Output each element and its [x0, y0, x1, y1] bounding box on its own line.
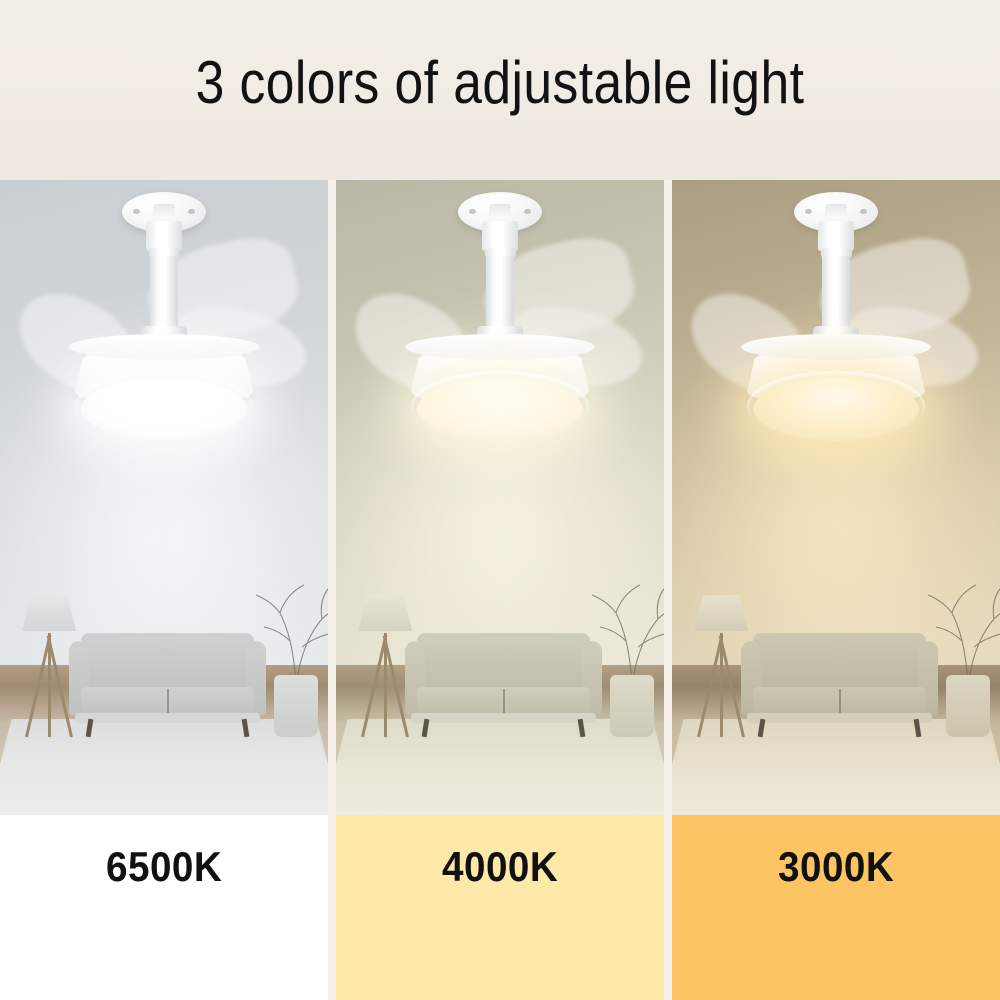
color-temperature-comparison: 6500K	[0, 180, 1000, 1000]
branch-vase	[946, 665, 990, 737]
header-banner: 3 colors of adjustable light	[0, 0, 1000, 180]
dried-branches-icon	[240, 575, 328, 685]
vase-body	[610, 675, 654, 737]
dried-branches-icon	[576, 575, 664, 685]
page-title: 3 colors of adjustable light	[70, 52, 930, 114]
mount-screw	[188, 209, 195, 214]
swatch-label-6500k: 6500K	[106, 843, 222, 891]
room-scene-4000k	[336, 180, 664, 815]
downrod-upper	[818, 221, 854, 251]
two-seat-sofa	[69, 615, 266, 737]
sofa-base	[411, 713, 596, 723]
two-seat-sofa	[741, 615, 938, 737]
room-scene-6500k	[0, 180, 328, 815]
mount-screw	[860, 209, 867, 214]
vase-body	[946, 675, 990, 737]
housing-lip	[405, 334, 595, 360]
branch-vase	[274, 665, 318, 737]
mount-screw	[805, 209, 812, 214]
dried-branches-icon	[912, 575, 1000, 685]
housing-lip	[69, 334, 259, 360]
downrod	[486, 256, 514, 334]
panel-6500k[interactable]: 6500K	[0, 180, 328, 1000]
diffuser-rim	[747, 371, 925, 441]
mount-screw	[524, 209, 531, 214]
swatch-6500k[interactable]: 6500K	[0, 815, 328, 1000]
sofa-seat-divider	[839, 689, 841, 715]
mount-screw	[469, 209, 476, 214]
diffuser-rim	[411, 371, 589, 441]
downrod	[150, 256, 178, 334]
swatch-4000k[interactable]: 4000K	[336, 815, 664, 1000]
mount-screw	[133, 209, 140, 214]
two-seat-sofa	[405, 615, 602, 737]
housing-lip	[741, 334, 931, 360]
downrod-upper	[482, 221, 518, 251]
vase-body	[274, 675, 318, 737]
diffuser-rim	[75, 371, 253, 441]
mount-notch	[153, 204, 175, 217]
mount-notch	[489, 204, 511, 217]
swatch-3000k[interactable]: 3000K	[672, 815, 1000, 1000]
panel-4000k[interactable]: 4000K	[336, 180, 664, 1000]
panel-3000k[interactable]: 3000K	[672, 180, 1000, 1000]
sofa-base	[747, 713, 932, 723]
swatch-label-4000k: 4000K	[442, 843, 558, 891]
product-feature-image: 3 colors of adjustable light	[0, 0, 1000, 1000]
downrod	[822, 256, 850, 334]
sofa-base	[75, 713, 260, 723]
sofa-seat-divider	[503, 689, 505, 715]
sofa-seat-divider	[167, 689, 169, 715]
swatch-label-3000k: 3000K	[778, 843, 894, 891]
downrod-upper	[146, 221, 182, 251]
branch-vase	[610, 665, 654, 737]
mount-notch	[825, 204, 847, 217]
room-scene-3000k	[672, 180, 1000, 815]
